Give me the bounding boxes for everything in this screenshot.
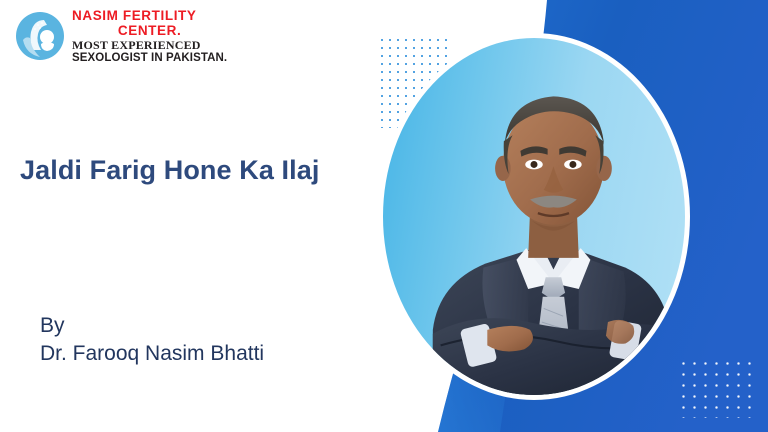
- byline-by-label: By: [40, 312, 264, 340]
- mother-and-child-circle-logo-icon: [14, 10, 66, 62]
- logo-line-3: MOST EXPERIENCED: [72, 39, 227, 51]
- logo-line-1: NASIM FERTILITY: [72, 9, 227, 23]
- logo-line-2: CENTER.: [72, 24, 227, 38]
- byline: By Dr. Farooq Nasim Bhatti: [40, 312, 264, 367]
- doctor-portrait: [378, 33, 690, 400]
- white-dot-grid-icon: [678, 358, 756, 418]
- brand-logo: NASIM FERTILITY CENTER. MOST EXPERIENCED…: [14, 7, 227, 65]
- presentation-slide: NASIM FERTILITY CENTER. MOST EXPERIENCED…: [0, 0, 768, 432]
- portrait-circle-frame: [378, 33, 690, 400]
- logo-line-4: SEXOLOGIST IN PAKISTAN.: [72, 53, 227, 65]
- brand-logo-text: NASIM FERTILITY CENTER. MOST EXPERIENCED…: [72, 7, 227, 65]
- byline-author: Dr. Farooq Nasim Bhatti: [40, 340, 264, 368]
- page-title: Jaldi Farig Hone Ka Ilaj: [20, 155, 319, 186]
